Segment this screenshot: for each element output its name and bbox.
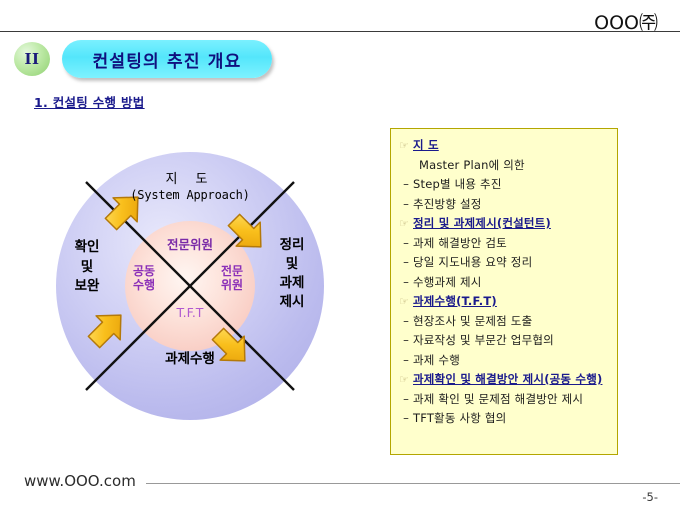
notes-list-item: –과제 해결방안 검토: [399, 236, 611, 251]
inner-label-left-line2: 수행: [120, 278, 168, 292]
dash-marker: –: [399, 314, 413, 329]
notes-list-item-label: Master Plan에 의한: [419, 158, 525, 173]
notes-list-item-label: 과제 확인 및 문제점 해결방안 제시: [413, 392, 583, 407]
dash-marker: –: [399, 275, 413, 290]
page-title: 컨설팅의 추진 개요: [93, 47, 242, 72]
notes-list-item-label: 과제 수행: [413, 353, 460, 368]
inner-label-left-line1: 공동: [120, 264, 168, 278]
notes-group-heading: ☞과제수행(T.F.T): [399, 294, 611, 309]
inner-label-left: 공동 수행: [120, 264, 168, 293]
footer-divider: [146, 483, 680, 484]
diagram-label-right-line4: 제시: [263, 293, 321, 312]
notes-list-item: –과제 수행: [399, 353, 611, 368]
diagram-label-top-ko: 지 도: [110, 172, 270, 188]
notes-group-heading: ☞정리 및 과제제시(컨설턴트): [399, 216, 611, 231]
inner-label-right-line1: 전문: [210, 264, 254, 278]
diagram-label-right-line2: 및: [263, 255, 321, 274]
notes-list-item: –과제 확인 및 문제점 해결방안 제시: [399, 392, 611, 407]
diagram-label-top: 지 도 (System Approach): [110, 172, 270, 202]
notes-list-item: Master Plan에 의한: [399, 158, 611, 173]
notes-list-item: –당일 지도내용 요약 정리: [399, 255, 611, 270]
dash-marker: –: [399, 236, 413, 251]
dash-marker: –: [399, 197, 413, 212]
inner-label-right: 전문 위원: [210, 264, 254, 293]
diagram-label-left-line3: 보완: [58, 277, 116, 297]
notes-list-item-label: 당일 지도내용 요약 정리: [413, 255, 532, 270]
page-number: -5-: [642, 490, 658, 504]
diagram-label-bottom: 과제수행: [140, 351, 240, 367]
diagram-label-right-line3: 과제: [263, 274, 321, 293]
dash-marker: –: [399, 255, 413, 270]
footer-url: www.OOO.com: [24, 472, 136, 490]
inner-label-right-line2: 위원: [210, 278, 254, 292]
diagram-label-top-en: (System Approach): [110, 188, 270, 203]
pointing-hand-icon: ☞: [399, 372, 413, 387]
notes-group-heading-label: 지 도: [413, 138, 439, 153]
notes-list-item-label: 자료작성 및 부문간 업무협의: [413, 333, 554, 348]
notes-group-heading-label: 과제수행(T.F.T): [413, 294, 497, 309]
notes-list-item-label: 현장조사 및 문제점 도출: [413, 314, 532, 329]
notes-list-item-label: 과제 해결방안 검토: [413, 236, 507, 251]
notes-list-item-label: Step별 내용 추진: [413, 177, 502, 192]
dash-marker: –: [399, 353, 413, 368]
dash-marker: –: [399, 177, 413, 192]
dash-marker: –: [399, 411, 413, 426]
inner-label-bottom: T.F.T: [138, 305, 242, 320]
arrow-bottom-left: [82, 303, 133, 354]
dash-marker: –: [399, 333, 413, 348]
notes-list-item-label: 수행과제 제시: [413, 275, 482, 290]
notes-list-item: –Step별 내용 추진: [399, 177, 611, 192]
notes-list-item: –추진방향 설정: [399, 197, 611, 212]
pointing-hand-icon: ☞: [399, 294, 413, 309]
inner-label-top: 전문위원: [135, 237, 245, 252]
diagram-label-left: 확인 및 보완: [58, 238, 116, 297]
notes-list-item: –수행과제 제시: [399, 275, 611, 290]
diagram-label-left-line2: 및: [58, 258, 116, 278]
notes-group-heading: ☞지 도: [399, 138, 611, 153]
diagram-label-right-line1: 정리: [263, 236, 321, 255]
notes-list-item: –자료작성 및 부문간 업무협의: [399, 333, 611, 348]
notes-list-item-label: TFT활동 사항 협의: [413, 411, 506, 426]
notes-list-item: –TFT활동 사항 협의: [399, 411, 611, 426]
pointing-hand-icon: ☞: [399, 138, 413, 153]
notes-list-item: –현장조사 및 문제점 도출: [399, 314, 611, 329]
subsection-heading: 1. 컨설팅 수행 방법: [34, 92, 145, 111]
diagram-label-left-line1: 확인: [58, 238, 116, 258]
notes-list-item-label: 추진방향 설정: [413, 197, 482, 212]
section-number-label: II: [24, 50, 39, 68]
diagram-label-right: 정리 및 과제 제시: [263, 236, 321, 313]
dash-marker: –: [399, 392, 413, 407]
section-title-pill: 컨설팅의 추진 개요: [62, 40, 272, 78]
notes-group-heading: ☞과제확인 및 해결방안 제시(공동 수행): [399, 372, 611, 387]
notes-panel: ☞지 도Master Plan에 의한–Step별 내용 추진–추진방향 설정☞…: [390, 128, 618, 455]
consulting-cycle-diagram: 지 도 (System Approach) 확인 및 보완 정리 및 과제 제시…: [56, 152, 324, 420]
notes-group-heading-label: 과제확인 및 해결방안 제시(공동 수행): [413, 372, 602, 387]
header-divider: [0, 31, 680, 32]
section-number-badge: II: [14, 42, 50, 76]
pointing-hand-icon: ☞: [399, 216, 413, 231]
notes-group-heading-label: 정리 및 과제제시(컨설턴트): [413, 216, 551, 231]
